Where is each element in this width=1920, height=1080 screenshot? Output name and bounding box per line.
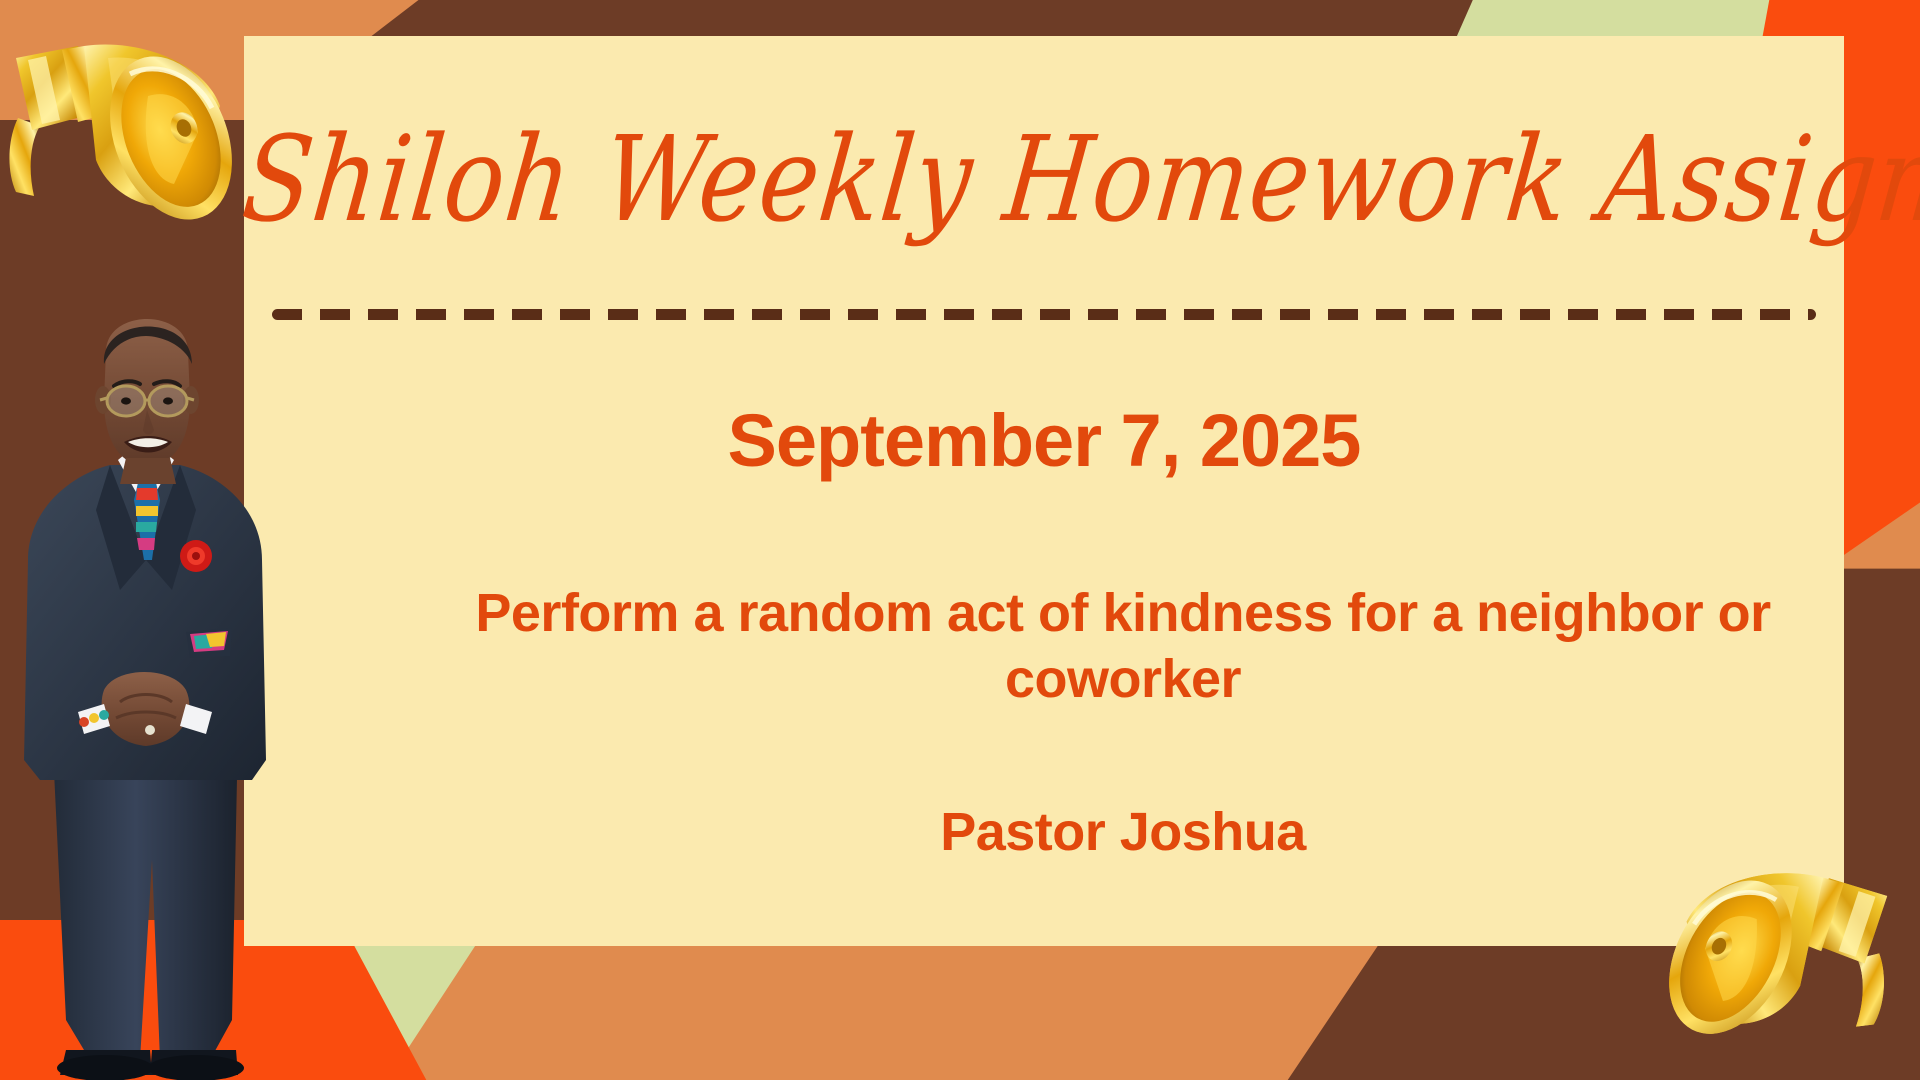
announcement-card: Shiloh Weekly Homework Assignment Septem… (244, 36, 1844, 946)
slide-canvas: Shiloh Weekly Homework Assignment Septem… (0, 0, 1920, 1080)
date-text: September 7, 2025 (244, 398, 1844, 483)
megaphone-icon (0, 10, 268, 240)
pastor-portrait (0, 260, 290, 1080)
page-title: Shiloh Weekly Homework Assignment (238, 121, 1850, 239)
assignment-text: Perform a random act of kindness for a n… (454, 581, 1792, 713)
pastor-legs (52, 730, 244, 1080)
dashed-divider (272, 309, 1816, 320)
megaphone-icon (1626, 811, 1920, 1080)
pastor-suit (24, 450, 266, 780)
signature-text: Pastor Joshua (454, 801, 1792, 863)
pastor-head (95, 319, 199, 484)
